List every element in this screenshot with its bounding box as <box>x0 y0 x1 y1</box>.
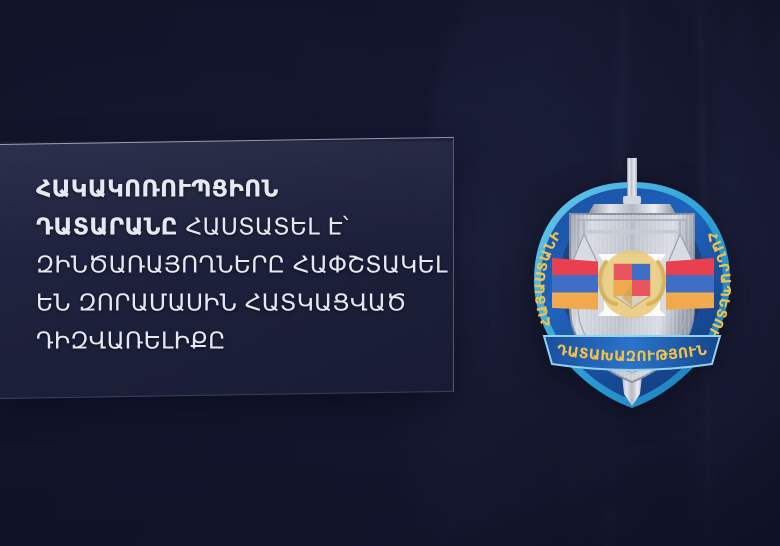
prosecutor-office-emblem: ՀԱՅԱՍՏԱՆԻ ՀԱՆՐԱՊԵՏՈՒԹՅԱՆ ԴԱՏԱԽԱԶՈՒԹՅՈՒՆ <box>508 158 756 414</box>
headline-text: ՀԱԿԱԿՈՌՈՒՊՑԻՈՆ ԴԱՏԱՐԱՆԸ ՀԱՍՏԱՏԵԼ Է՝ ԶԻՆԾ… <box>36 169 427 359</box>
headline-plaque: ՀԱԿԱԿՈՌՈՒՊՑԻՈՆ ԴԱՏԱՐԱՆԸ ՀԱՍՏԱՏԵԼ Է՝ ԶԻՆԾ… <box>0 137 454 399</box>
headline-line-1: ՀԱԿԱԿՈՌՈՒՊՑԻՈՆ <box>36 169 427 207</box>
headline-line-2: ԴԱՏԱՐԱՆԸ ՀԱՍՏԱՏԵԼ Է՝ <box>36 207 427 245</box>
headline-line-2-regular: ՀԱՍՏԱՏԵԼ Է՝ <box>178 212 349 240</box>
headline-line-1-bold: ՀԱԿԱԿՈՌՈՒՊՑԻՈՆ <box>36 174 278 202</box>
news-banner-image: ՀԱԿԱԿՈՌՈՒՊՑԻՈՆ ԴԱՏԱՐԱՆԸ ՀԱՍՏԱՏԵԼ Է՝ ԶԻՆԾ… <box>0 0 780 546</box>
headline-line-5: ԴԻԶՎԱՌԵԼԻՔԸ <box>36 321 427 359</box>
headline-line-5-regular: ԴԻԶՎԱՌԵԼԻՔԸ <box>36 326 226 354</box>
sword-crossguard <box>588 204 676 214</box>
headline-line-4-regular: ԵՆ ԶՈՐԱՄԱՍԻՆ ՀԱՏԿԱՑՎԱԾ <box>36 288 407 316</box>
headline-line-2-bold: ԴԱՏԱՐԱՆԸ <box>36 212 178 240</box>
headline-line-3: ԶԻՆԾԱՌԱՅՈՂՆԵՐԸ ՀԱՓՇՏԱԿԵԼ <box>36 245 427 283</box>
coat-of-arms-icon <box>600 250 665 318</box>
headline-line-4: ԵՆ ԶՈՐԱՄԱՍԻՆ ՀԱՏԿԱՑՎԱԾ <box>36 283 427 321</box>
headline-line-3-regular: ԶԻՆԾԱՌԱՅՈՂՆԵՐԸ ՀԱՓՇՏԱԿԵԼ <box>36 250 448 278</box>
